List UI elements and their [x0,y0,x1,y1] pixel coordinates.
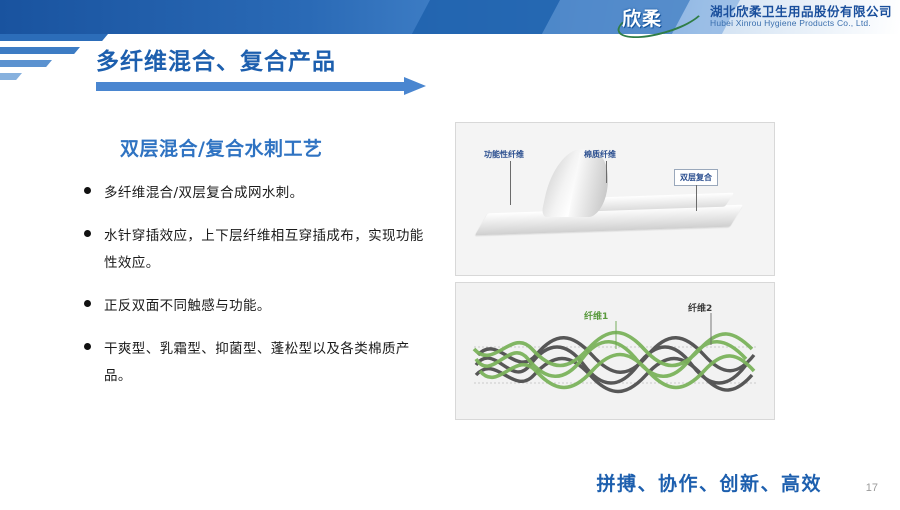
list-item: 干爽型、乳霜型、抑菌型、蓬松型以及各类棉质产品。 [84,336,434,389]
page-number: 17 [866,482,878,494]
leader-line [606,161,607,183]
label-double-layer-composite: 双层复合 [674,169,718,186]
label-cotton-fiber: 棉质纤维 [584,149,616,160]
bullet-list: 多纤维混合/双层复合成网水刺。 水针穿插效应，上下层纤维相互穿插成布，实现功能性… [84,180,434,406]
bullet-dot-icon [84,300,91,307]
list-item: 多纤维混合/双层复合成网水刺。 [84,180,434,206]
company-name-block: 湖北欣柔卫生用品股份有限公司 Hubei Xinrou Hygiene Prod… [710,5,892,29]
title-arrow-bar [96,82,406,91]
company-name-en: Hubei Xinrou Hygiene Products Co., Ltd. [710,19,892,29]
list-item-label: 水针穿插效应，上下层纤维相互穿插成布，实现功能性效应。 [104,223,434,276]
title-arrow-tip [404,77,426,95]
stripe [0,60,52,67]
logo-text: 欣柔 [616,4,662,31]
diagram-panel-bottom: 纤维1 纤维2 [455,282,775,420]
stripe [0,73,22,80]
company-brand: 欣柔 湖北欣柔卫生用品股份有限公司 Hubei Xinrou Hygiene P… [616,1,892,33]
slide: 欣柔 湖北欣柔卫生用品股份有限公司 Hubei Xinrou Hygiene P… [0,0,900,510]
label-fiber-2: 纤维2 [688,301,712,314]
list-item-label: 干爽型、乳霜型、抑菌型、蓬松型以及各类棉质产品。 [104,336,434,389]
fiber-weave-illustration [456,283,774,419]
label-fiber-1: 纤维1 [584,309,608,322]
list-item-label: 多纤维混合/双层复合成网水刺。 [104,180,304,206]
logo-icon: 欣柔 [616,2,702,32]
leader-line [510,161,511,205]
label-functional-fiber: 功能性纤维 [484,149,524,160]
stripe [0,34,108,41]
footer-slogan: 拼搏、协作、创新、高效 [596,469,822,496]
leader-line [696,185,697,211]
bullet-dot-icon [84,230,91,237]
list-item: 水针穿插效应，上下层纤维相互穿插成布，实现功能性效应。 [84,223,434,276]
bullet-dot-icon [84,187,91,194]
title-block: 多纤维混合、复合产品 [96,42,336,76]
title-arrow-icon [96,80,436,92]
page-title: 多纤维混合、复合产品 [96,42,336,76]
bullet-dot-icon [84,343,91,350]
stripe [0,47,80,54]
list-item: 正反双面不同触感与功能。 [84,293,434,319]
list-item-label: 正反双面不同触感与功能。 [104,293,271,319]
section-subtitle: 双层混合/复合水刺工艺 [120,134,322,161]
company-name-cn: 湖北欣柔卫生用品股份有限公司 [710,5,892,19]
diagram-panel-top: 功能性纤维 棉质纤维 双层复合 [455,122,775,276]
